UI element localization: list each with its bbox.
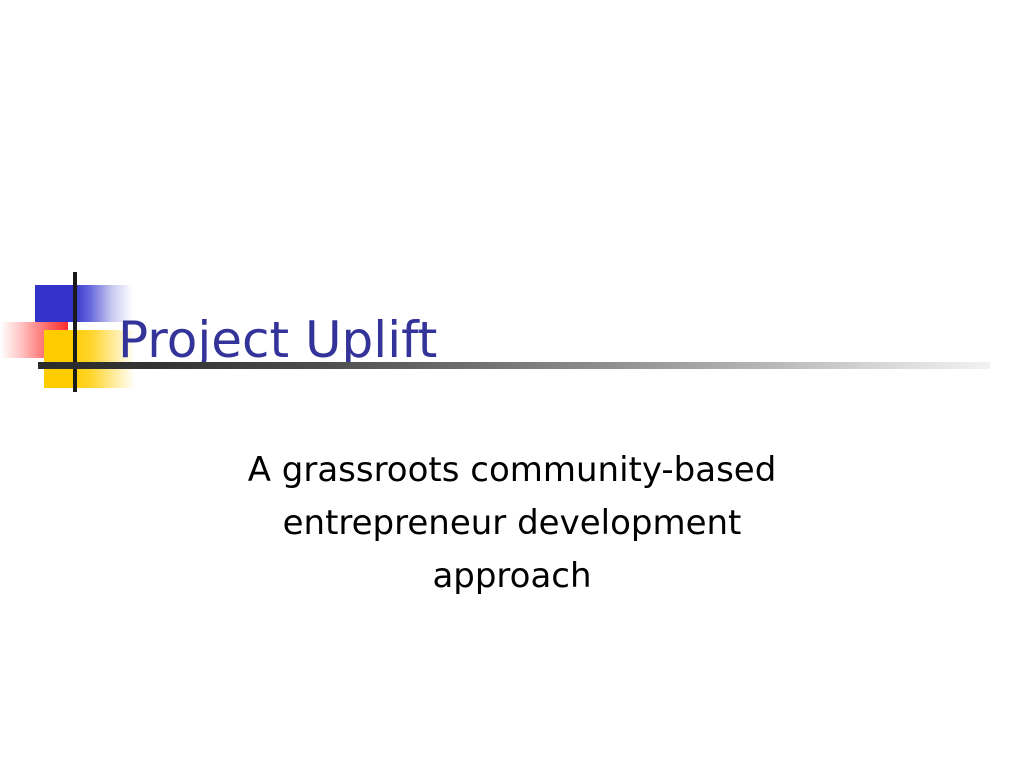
subtitle-line-1: A grassroots community-based [162,444,862,497]
slide-subtitle: A grassroots community-based entrepreneu… [162,444,862,603]
title-block: Project Uplift [0,0,1024,430]
yellow-square-icon [44,330,73,388]
page-title: Project Uplift [118,311,938,369]
title-divider [38,362,990,369]
presentation-slide: Project Uplift A grassroots community-ba… [0,0,1024,768]
vertical-rule-icon [73,272,77,392]
blue-square-icon [35,285,73,322]
subtitle-line-3: approach [162,550,862,603]
subtitle-line-2: entrepreneur development [162,497,862,550]
